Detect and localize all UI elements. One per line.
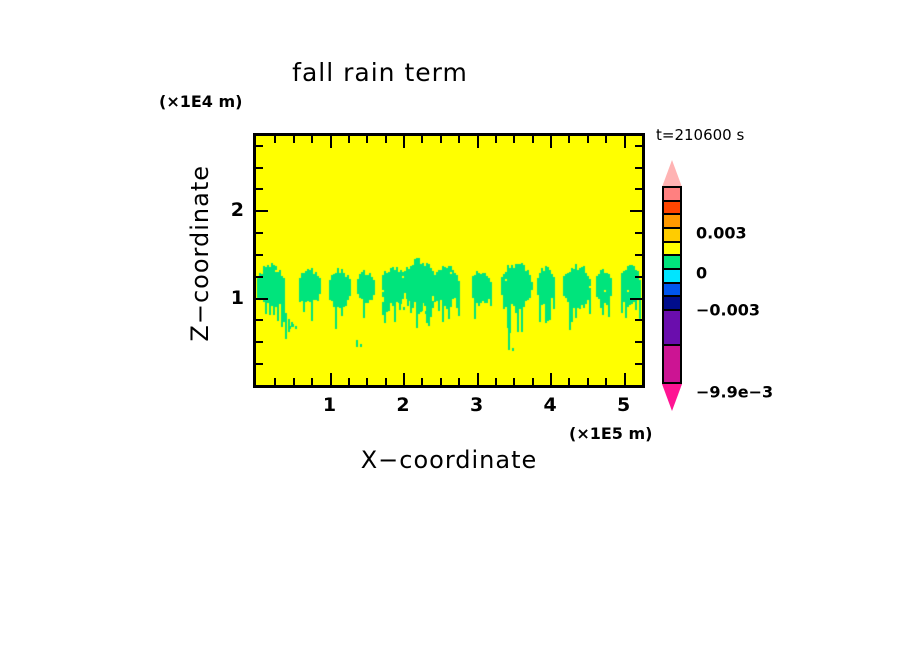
y-tick-left [256,341,263,343]
y-tick-left [256,188,263,190]
x-tick-bottom [605,378,607,385]
x-tick-bottom [587,378,589,385]
y-tick-left [256,232,263,234]
plot-area [253,133,645,388]
x-tick-bottom [385,378,387,385]
y-axis-title: Z−coordinate [186,165,214,342]
colorbar-bands [662,186,682,384]
colorbar-tick-label: −0.003 [696,301,760,320]
y-tick-label: 2 [226,199,244,221]
x-tick-top [458,136,460,143]
x-tick-top [568,136,570,143]
x-tick-top [274,136,276,143]
y-tick-right [635,188,642,190]
x-tick-label: 5 [617,394,630,416]
rain-field-canvas [256,136,642,385]
x-tick-bottom [495,378,497,385]
x-tick-top [348,136,350,143]
y-tick-right [635,145,642,147]
colorbar-band [664,311,680,347]
y-tick-right [630,210,642,212]
colorbar-over-arrow [662,160,682,187]
x-tick-top [385,136,387,143]
x-tick-label: 2 [396,394,409,416]
y-tick-right [635,319,642,321]
x-tick-bottom [274,378,276,385]
x-tick-bottom [532,378,534,385]
x-tick-top [513,136,515,143]
y-tick-right [635,341,642,343]
colorbar-band [664,188,680,202]
colorbar-band [664,229,680,243]
colorbar-band [664,202,680,216]
x-tick-bottom [293,378,295,385]
x-tick-top [311,136,313,143]
x-tick-top [293,136,295,143]
y-tick-label: 1 [226,287,244,309]
colorbar-band [664,284,680,298]
x-tick-bottom [624,373,626,385]
x-axis-unit-label: (×1E5 m) [569,424,652,443]
x-tick-bottom [477,373,479,385]
x-tick-top [495,136,497,143]
x-tick-top [605,136,607,143]
x-tick-top [624,136,626,148]
y-tick-right [630,298,642,300]
colorbar-band [664,297,680,311]
x-tick-bottom [366,378,368,385]
y-tick-left [256,363,263,365]
x-tick-bottom [513,378,515,385]
x-tick-bottom [403,373,405,385]
x-tick-bottom [311,378,313,385]
timestamp-annotation: t=210600 s [656,126,744,144]
x-tick-top [477,136,479,148]
x-tick-top [366,136,368,143]
x-tick-bottom [348,378,350,385]
x-tick-top [403,136,405,148]
x-tick-label: 3 [470,394,483,416]
y-tick-left [256,167,263,169]
colorbar-tick-label: 0 [696,264,707,283]
y-tick-right [635,167,642,169]
y-tick-right [635,363,642,365]
y-tick-left [256,276,263,278]
x-tick-top [587,136,589,143]
x-tick-label: 4 [543,394,556,416]
x-tick-bottom [330,373,332,385]
x-tick-bottom [550,373,552,385]
x-tick-top [330,136,332,148]
page-title: fall rain term [0,58,760,87]
y-tick-right [635,232,642,234]
x-tick-bottom [421,378,423,385]
x-tick-bottom [458,378,460,385]
y-axis-unit-label: (×1E4 m) [159,92,242,111]
x-tick-top [440,136,442,143]
colorbar-band [664,256,680,270]
y-tick-left [256,319,263,321]
x-tick-top [532,136,534,143]
x-tick-top [421,136,423,143]
x-axis-title: X−coordinate [253,446,645,474]
y-tick-left [256,298,268,300]
colorbar-band [664,243,680,257]
colorbar-band [664,215,680,229]
colorbar: 0.0030−0.003−9.9e−3 [662,160,682,410]
y-tick-right [635,276,642,278]
colorbar-tick-label: 0.003 [696,224,747,243]
y-tick-left [256,210,268,212]
colorbar-under-arrow [662,384,682,411]
colorbar-band [664,346,680,382]
x-tick-bottom [568,378,570,385]
x-tick-top [550,136,552,148]
y-tick-left [256,254,263,256]
x-tick-bottom [440,378,442,385]
colorbar-band [664,270,680,284]
x-tick-label: 1 [323,394,336,416]
y-tick-right [635,254,642,256]
colorbar-tick-label: −9.9e−3 [696,383,773,402]
y-tick-left [256,145,263,147]
